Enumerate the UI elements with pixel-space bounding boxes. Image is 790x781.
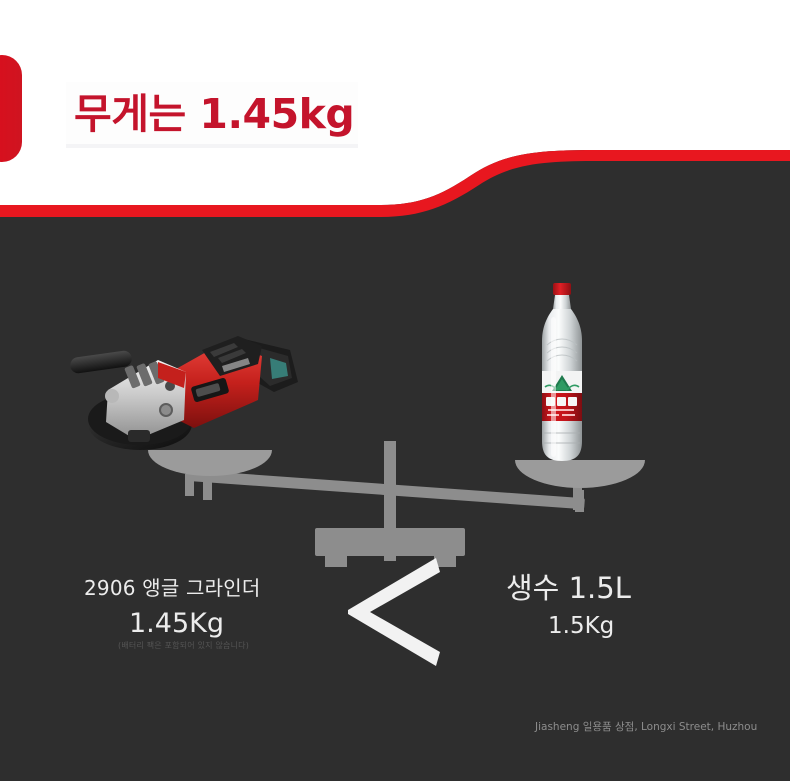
scale-hanger-left — [203, 474, 212, 500]
water-bottle-icon — [538, 283, 586, 465]
scale-foot-left — [325, 556, 347, 567]
left-item-name: 2906 앵글 그라인더 — [84, 572, 260, 601]
left-item-note: (배터리 팩은 포함되어 있지 않습니다) — [118, 640, 249, 651]
less-than-icon — [348, 556, 440, 668]
scale-beam-elbow-left — [185, 474, 194, 496]
footer-store-info: Jiasheng 일용품 상점, Longxi Street, Huzhou — [535, 719, 757, 734]
comparison-stage: 2906 앵글 그라인더 1.45Kg 생수 1.5L 1.5Kg — [0, 228, 790, 781]
angle-grinder-icon — [62, 316, 312, 466]
header-banner: 무게는 1.45kg — [0, 0, 790, 230]
left-item-weight: 1.45Kg — [129, 608, 224, 639]
right-item-weight: 1.5Kg — [548, 613, 614, 639]
scale-base — [315, 528, 465, 556]
right-item-name: 생수 1.5L — [506, 565, 631, 607]
red-accent-tab — [0, 55, 22, 162]
page-title: 무게는 1.45kg — [74, 86, 354, 142]
scale-hanger-right — [573, 486, 582, 510]
product-weight-infographic: 무게는 1.45kg — [0, 0, 790, 781]
